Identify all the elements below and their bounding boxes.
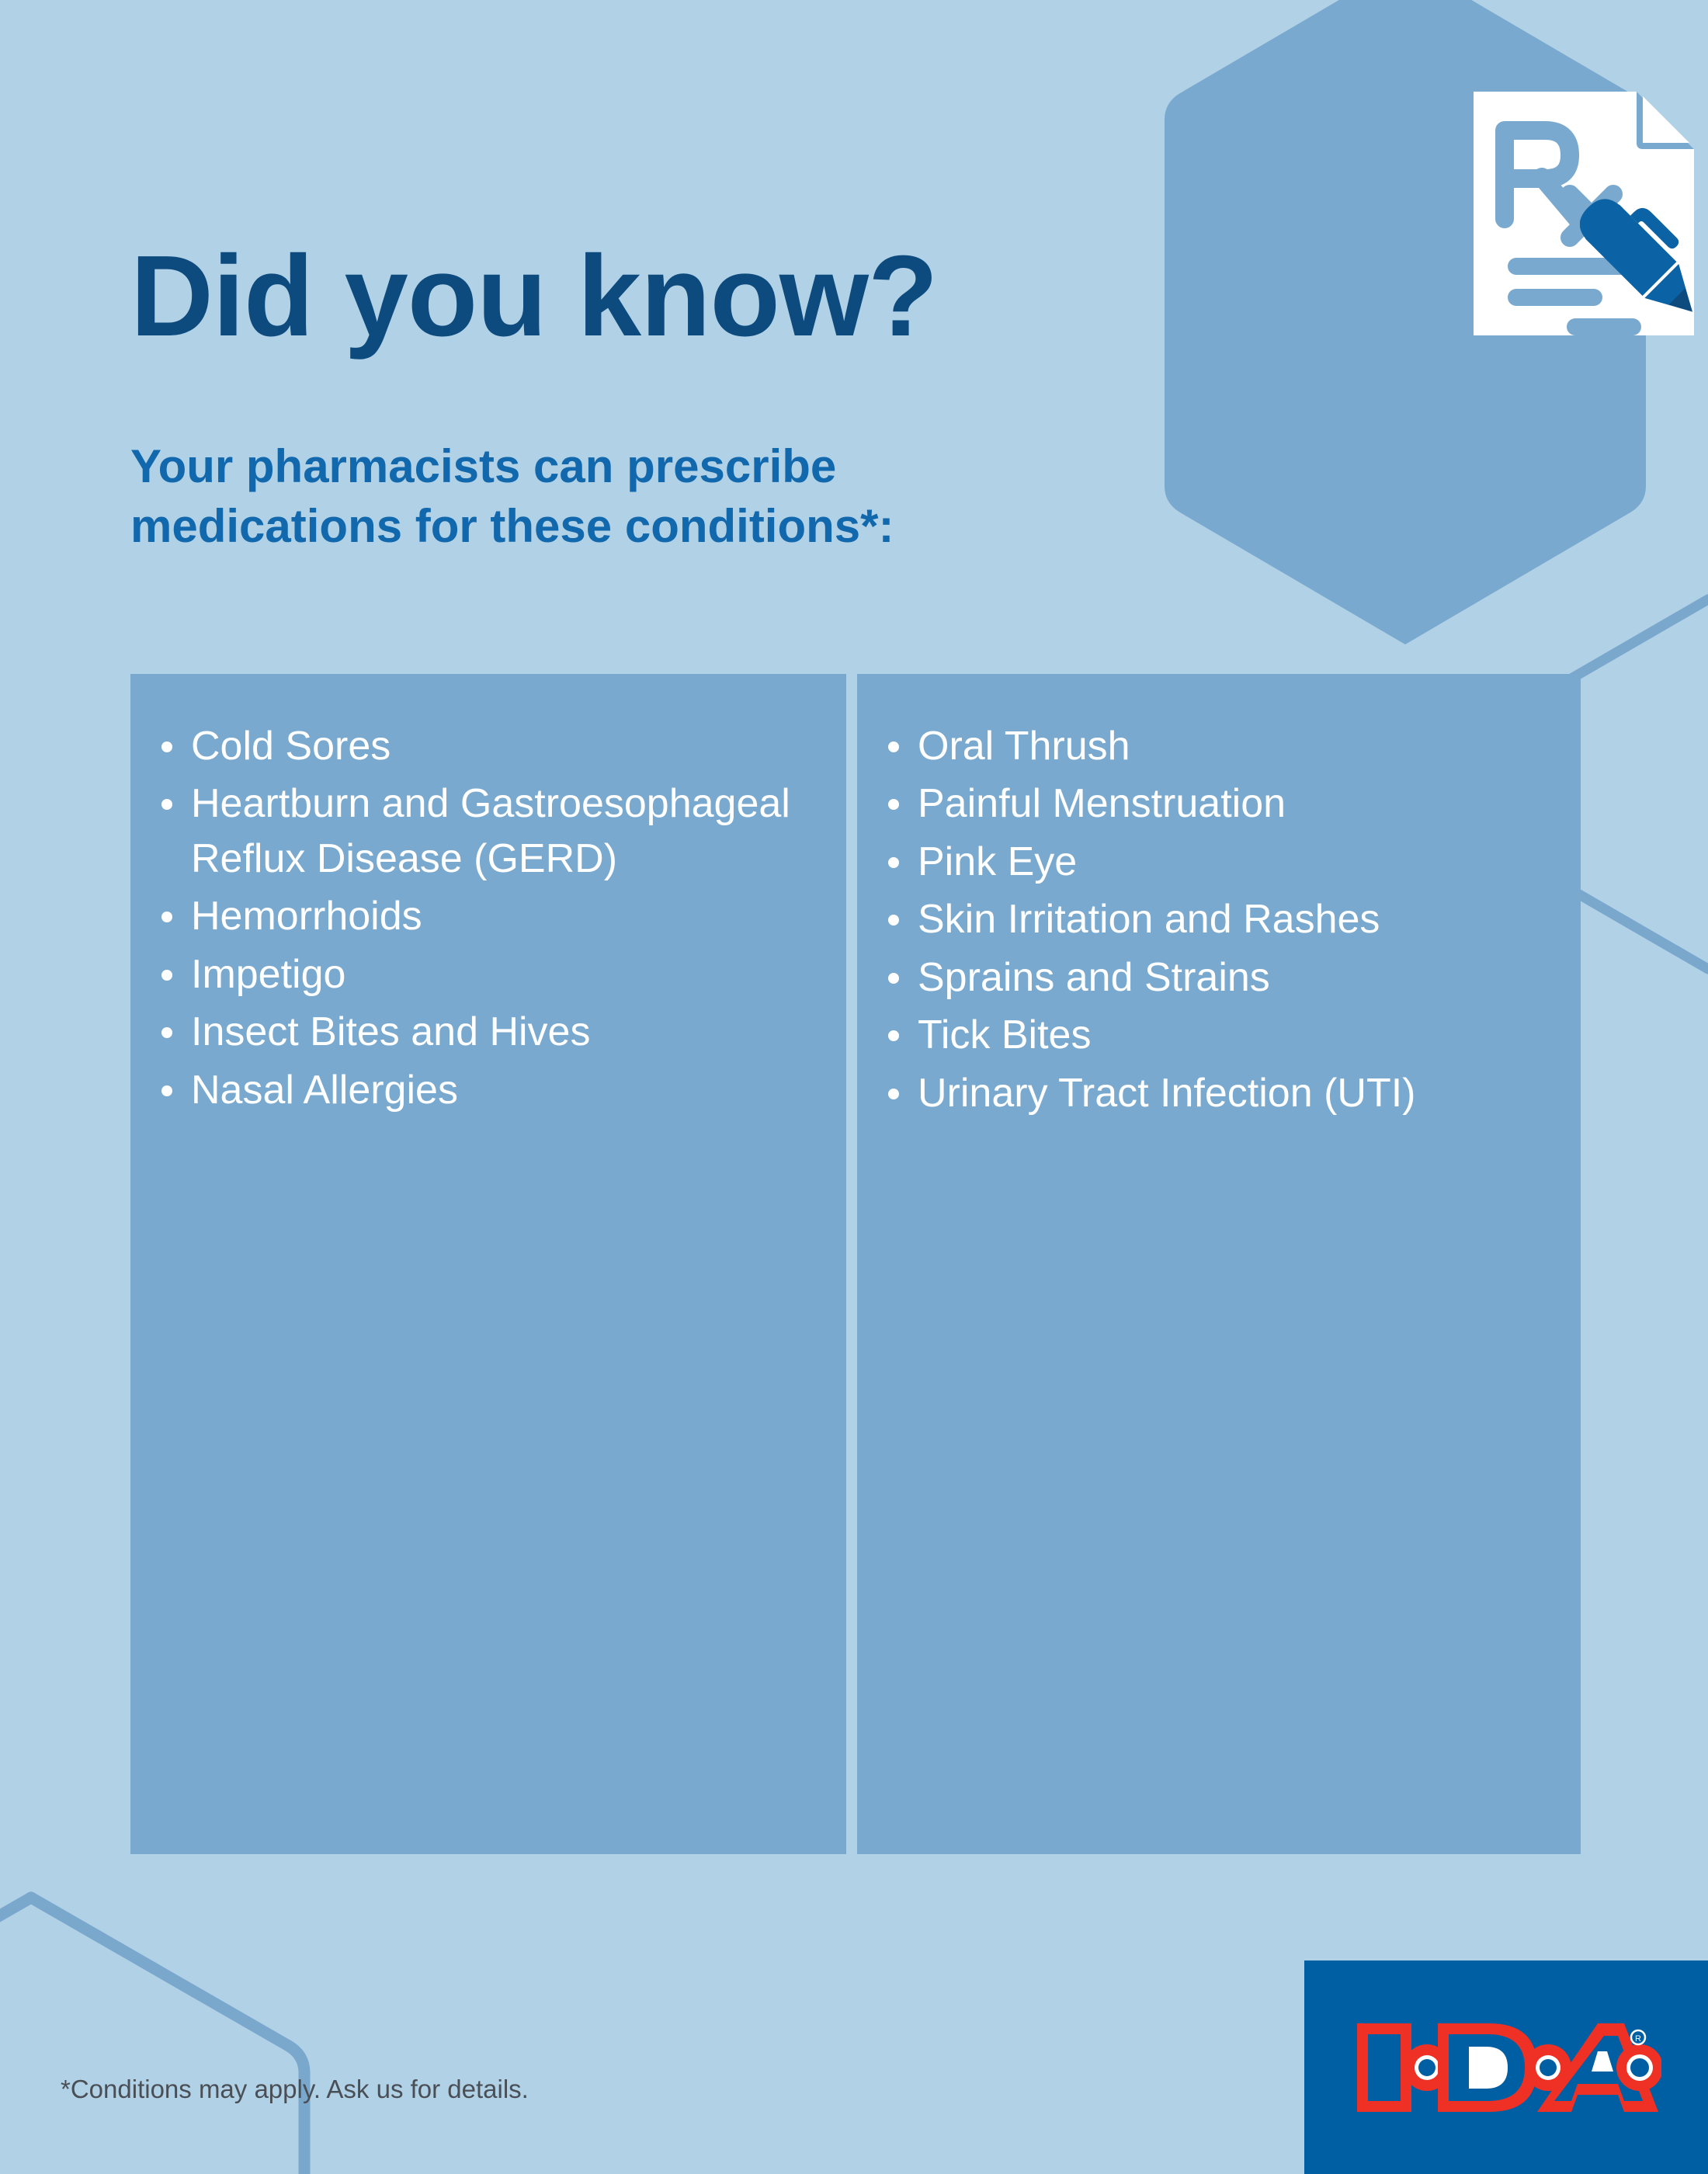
list-item: Painful Menstruation [880, 776, 1557, 831]
list-item: Insect Bites and Hives [154, 1005, 823, 1059]
page-subtitle-line-1: Your pharmacists can prescribe [130, 437, 1140, 497]
page-subtitle-line-2: medications for these conditions*: [130, 497, 1140, 557]
pen-icon [1580, 194, 1708, 334]
list-item: Oral Thrush [880, 719, 1557, 773]
hexagon-outline-shape [0, 1887, 318, 2174]
conditions-list-left: Cold Sores Heartburn and Gastroesophagea… [154, 719, 823, 1117]
list-item: Heartburn and Gastroesophageal Reflux Di… [154, 776, 823, 886]
list-item: Pink Eye [880, 835, 1557, 889]
poster-root: Did you know? Your pharmacists can presc… [0, 0, 1708, 2174]
list-item: Hemorrhoids [154, 889, 823, 943]
page-title: Did you know? [130, 236, 937, 356]
list-item: Nasal Allergies [154, 1063, 823, 1117]
registered-mark-icon: R [1631, 2030, 1645, 2044]
conditions-list-right: Oral Thrush Painful Menstruation Pink Ey… [880, 719, 1557, 1120]
conditions-panel-left: Cold Sores Heartburn and Gastroesophagea… [130, 674, 846, 1854]
page-subtitle: Your pharmacists can prescribe medicatio… [130, 437, 1140, 557]
rx-prescription-document-icon [1467, 85, 1700, 342]
footnote-disclaimer: *Conditions may apply. Ask us for detail… [61, 2075, 529, 2104]
list-item: Urinary Tract Infection (UTI) [880, 1066, 1557, 1120]
list-item: Cold Sores [154, 719, 823, 773]
hexagon-shape [1157, 0, 1654, 652]
list-item: Tick Bites [880, 1008, 1557, 1062]
ida-logo-panel: R [1304, 1960, 1708, 2174]
ida-logo: R [1351, 2017, 1661, 2118]
svg-text:R: R [1635, 2034, 1641, 2044]
conditions-panel-right: Oral Thrush Painful Menstruation Pink Ey… [857, 674, 1581, 1854]
list-item: Sprains and Strains [880, 950, 1557, 1005]
list-item: Skin Irritation and Rashes [880, 892, 1557, 946]
conditions-panels: Cold Sores Heartburn and Gastroesophagea… [130, 674, 1581, 1854]
list-item: Impetigo [154, 947, 823, 1002]
